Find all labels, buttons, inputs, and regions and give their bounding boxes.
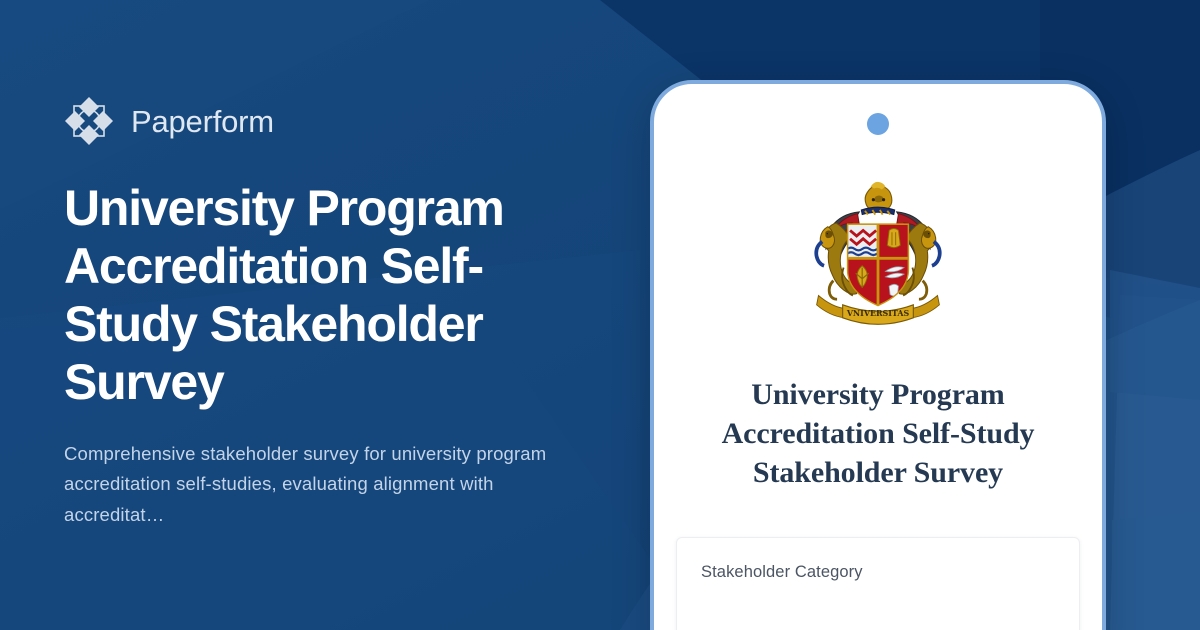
svg-text:VNIVERSITAS: VNIVERSITAS xyxy=(846,309,910,318)
brand-name: Paperform xyxy=(131,106,274,137)
form-field-stakeholder-category[interactable]: Stakeholder Category xyxy=(676,537,1080,630)
form-title: University Program Accreditation Self-St… xyxy=(694,375,1062,492)
university-coat-of-arms-crest-icon: VNIVERSITAS xyxy=(785,156,971,342)
front-camera-dot-icon xyxy=(867,113,889,135)
form-preview: VNIVERSITAS University Program Accredita… xyxy=(654,84,1102,630)
page-title: University Program Accreditation Self-St… xyxy=(64,180,564,411)
hero-content: Paperform University Program Accreditati… xyxy=(64,0,624,630)
paperform-star-logo-icon xyxy=(64,96,114,146)
brand-logo: Paperform xyxy=(64,96,624,146)
field-label: Stakeholder Category xyxy=(701,562,1055,583)
crest-image-wrap: VNIVERSITAS xyxy=(694,156,1062,342)
page-description: Comprehensive stakeholder survey for uni… xyxy=(64,439,559,529)
phone-mockup: VNIVERSITAS University Program Accredita… xyxy=(650,80,1106,630)
